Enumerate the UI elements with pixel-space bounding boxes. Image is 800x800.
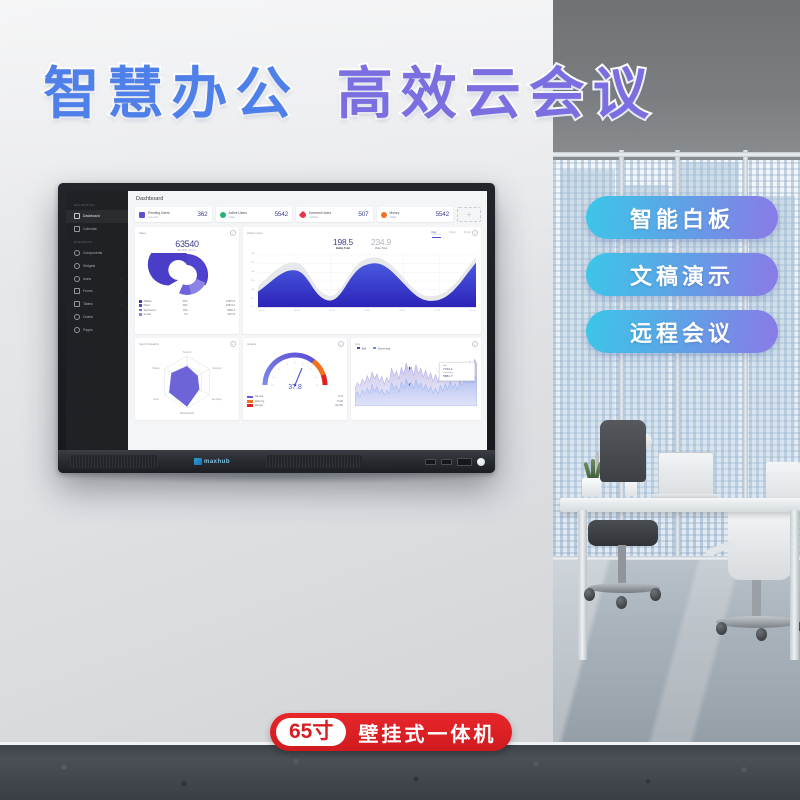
metric-value: 234.9 — [371, 237, 391, 247]
tooltip-value-1: 7314.4 — [443, 367, 471, 371]
caster — [650, 588, 661, 601]
card-title: Grades — [247, 342, 343, 346]
legend-label: Warning — [255, 400, 264, 403]
brand-logo: maxhub — [194, 458, 230, 465]
sidebar-item-charts[interactable]: Charts › — [66, 310, 128, 323]
chart-row-2: Sport Popularity — [135, 338, 481, 420]
dark-chair-seat — [588, 520, 658, 546]
legend-amount: 22874.4 — [226, 304, 235, 307]
components-icon — [74, 250, 80, 256]
feature-pill-remote-meeting[interactable]: 远程会议 — [586, 310, 778, 353]
stat-label: Pending Users more info — [148, 211, 170, 219]
legend-swatch — [357, 347, 360, 350]
radar-axis-label: Basketball — [180, 411, 194, 415]
stat-title: Money — [390, 211, 400, 215]
dormant-icon — [299, 210, 307, 218]
feature-pill-presentation[interactable]: 文稿演示 — [586, 253, 778, 296]
stat-subtitle: undefine — [309, 216, 318, 219]
stat-label: Money dollars — [390, 211, 400, 219]
radar-axis-label: Volley — [152, 366, 161, 370]
stat-value: 507 — [358, 211, 368, 218]
stat-subtitle: dollars — [390, 216, 397, 219]
dark-chair-base — [588, 583, 660, 593]
stat-title: Dormant Users — [309, 211, 331, 215]
hdmi-port-icon — [457, 458, 472, 466]
tab-month[interactable]: Month — [464, 231, 471, 238]
window-transom — [553, 152, 800, 157]
caster — [616, 596, 627, 609]
calendar-icon — [74, 226, 80, 232]
legend-swatch — [247, 404, 253, 407]
donut-chart — [139, 253, 235, 295]
dashboard-sidebar: NAVIGATION Dashboard Calendar ELEMENTS C… — [66, 191, 128, 458]
active-users-metrics: 198.5 Bullet Total 234.9 Plate Total — [247, 237, 477, 250]
page-title: Dashboard — [136, 196, 481, 202]
radar-axis-label: Soccer — [212, 366, 221, 370]
gauge-value: 37.8 — [288, 384, 302, 391]
sidebar-item-label: Charts — [83, 315, 93, 319]
legend-label: Ball — [362, 347, 366, 350]
concrete-floor — [0, 745, 800, 800]
legend-percent: 44% — [172, 300, 188, 303]
gear-icon[interactable] — [338, 341, 344, 347]
active-icon — [220, 212, 226, 218]
stat-card-row: Pending Users more info 362 Active Users… — [135, 207, 481, 222]
donut-center-subtitle: MORE INFO — [139, 249, 235, 252]
sidebar-item-tables[interactable]: Tables › — [66, 298, 128, 311]
sidebar-item-label: Icons — [83, 277, 91, 281]
tab-day[interactable]: Day2018-01-01 — [432, 231, 442, 238]
chevron-right-icon: › — [121, 277, 122, 281]
sidebar-item-label: Tables — [83, 302, 93, 306]
logo-text: maxhub — [204, 459, 230, 465]
stat-value: 362 — [197, 211, 207, 218]
speaker-grille-right — [266, 455, 362, 468]
legend-label: Sponsored — [144, 309, 172, 312]
radar-axis-label: Tennis — [183, 350, 192, 354]
legend-label: Danger — [255, 404, 263, 407]
gear-icon[interactable] — [230, 341, 236, 347]
feature-pill-whiteboard[interactable]: 智能白板 — [586, 196, 778, 239]
legend-label: Direct — [144, 304, 172, 307]
dashboard-content: Dashboard Pending Users more info 362 — [128, 191, 487, 458]
sidebar-item-pages[interactable]: Pages › — [66, 323, 128, 336]
area-chart — [258, 253, 476, 311]
gear-icon[interactable] — [472, 230, 478, 236]
line-chart-card: Line Ball Swimming — [351, 338, 481, 420]
caster — [716, 622, 727, 635]
card-title: Line — [355, 342, 477, 346]
radar-axis-label: Hockey — [212, 397, 223, 401]
dark-chair-back — [600, 420, 646, 482]
desk-leg-left — [578, 510, 587, 660]
legend-label: Affiliate — [144, 300, 172, 303]
legend-range: 90-100 — [335, 404, 343, 407]
legend-label: Normal — [255, 395, 263, 398]
sidebar-item-calendar[interactable]: Calendar — [66, 223, 128, 236]
legend-swatch — [139, 309, 142, 312]
white-chair-post — [752, 580, 761, 618]
legend-swatch — [139, 304, 142, 307]
stat-title: Pending Users — [148, 211, 170, 215]
white-chair-base — [716, 616, 800, 628]
metric-value: 198.5 — [333, 237, 353, 247]
stat-title: Active Users — [229, 211, 248, 215]
stat-card-dormant-users[interactable]: Dormant Users undefine 507 — [296, 207, 373, 222]
legend-item-swimming[interactable]: Swimming — [373, 347, 390, 351]
gear-icon[interactable] — [230, 230, 236, 236]
chevron-right-icon: › — [121, 251, 122, 255]
pages-icon — [74, 327, 80, 333]
legend-amount: 4447.8 — [227, 313, 235, 316]
add-card-button[interactable]: + — [457, 207, 481, 222]
logo-mark-icon — [194, 458, 202, 465]
desk-leg-right — [790, 510, 799, 660]
dashboard-screen: NAVIGATION Dashboard Calendar ELEMENTS C… — [66, 191, 487, 458]
radar-chart: Tennis Soccer Hockey Basketball Golf Vol… — [139, 346, 235, 416]
stat-subtitle: more info — [148, 216, 158, 219]
legend-swatch — [247, 396, 253, 399]
y-tick: 50 — [251, 298, 253, 300]
sidebar-section-elements: ELEMENTS — [66, 236, 128, 247]
charts-icon — [74, 314, 80, 320]
sidebar-item-label: Dashboard — [83, 214, 100, 218]
headline-part-1: 智慧办公 — [43, 62, 299, 125]
line-legend: Ball Swimming — [357, 347, 477, 351]
tab-sublabel: 2018-01-01 — [432, 234, 442, 236]
poster-headline: 智慧办公 高效云会议 — [0, 66, 700, 122]
headline-part-2: 高效云会议 — [337, 62, 657, 125]
sidebar-item-forms[interactable]: Forms › — [66, 285, 128, 298]
sidebar-item-label: Components — [83, 251, 102, 255]
metric-label: Plate Total — [371, 247, 391, 250]
side-cabinet — [766, 462, 800, 502]
speaker-grille-left — [70, 455, 158, 468]
tab-week[interactable]: Week — [449, 231, 456, 238]
legend-swatch — [247, 400, 253, 403]
display-drop-shadow — [70, 470, 482, 484]
stat-card-active-users[interactable]: Active Users online 5542 — [216, 207, 293, 222]
caster — [756, 628, 767, 641]
chevron-right-icon: › — [121, 315, 122, 319]
stat-label: Active Users online — [229, 211, 248, 219]
legend-label: E-mail — [144, 313, 172, 316]
radar-axis-label: Golf — [153, 397, 159, 401]
money-icon — [381, 212, 387, 218]
tooltip-value-2: 5881.7 — [443, 374, 471, 378]
white-chair-back — [728, 500, 792, 580]
legend-item: Danger 90-100 — [247, 403, 343, 407]
stat-label: Dormant Users undefine — [309, 211, 331, 219]
legend-swatch — [373, 347, 376, 350]
sidebar-item-widgets[interactable]: Widgets › — [66, 259, 128, 272]
badge-size-label: 65寸 — [276, 718, 346, 746]
sales-donut-card: Sales 63540 MORE INFO — [135, 227, 239, 334]
sidebar-section-navigation: NAVIGATION — [66, 199, 128, 210]
tables-icon — [74, 301, 80, 307]
chevron-right-icon: › — [121, 264, 122, 268]
laptop-screen — [658, 452, 714, 498]
sidebar-item-dashboard[interactable]: Dashboard — [66, 210, 128, 223]
y-tick: 150 — [251, 280, 255, 282]
gauge-chart: 37.8 — [247, 347, 343, 391]
sidebar-item-components[interactable]: Components › — [66, 247, 128, 260]
widgets-icon — [74, 263, 80, 269]
sidebar-item-label: Widgets — [83, 264, 95, 268]
y-tick: 100 — [251, 289, 255, 291]
legend-amount: 27957.8 — [226, 300, 235, 303]
sidebar-item-label: Forms — [83, 289, 93, 293]
legend-percent: 36% — [172, 304, 188, 307]
sport-popularity-radar-card: Sport Popularity — [135, 338, 239, 420]
legend-percent: 13% — [172, 309, 188, 312]
forms-icon — [74, 288, 80, 294]
y-tick: 200 — [251, 271, 255, 273]
product-size-badge: 65寸 壁挂式一体机 — [270, 713, 512, 751]
stat-card-pending-users[interactable]: Pending Users more info 362 — [135, 207, 212, 222]
y-tick: 250 — [251, 262, 255, 264]
metric-plate-total: 234.9 Plate Total — [371, 237, 391, 250]
sidebar-item-icons[interactable]: Icons › — [66, 272, 128, 285]
pending-icon — [139, 212, 145, 218]
poster-stage: 智慧办公 高效云会议 智能白板 文稿演示 远程会议 65寸 壁挂式一体机 NAV… — [0, 0, 800, 800]
chart-row-1: Sales 63540 MORE INFO — [135, 227, 481, 334]
desk-top — [560, 498, 800, 512]
active-users-area-card: Active Users Day2018-01-01 Week Month 19… — [243, 227, 481, 334]
badge-type-label: 壁挂式一体机 — [358, 718, 496, 747]
donut-center-value: 63540 — [139, 239, 235, 249]
legend-range: 0-70 — [338, 395, 343, 398]
home-icon — [74, 213, 80, 219]
legend-item-ball[interactable]: Ball — [357, 347, 366, 351]
gauge-legend: Normal 0-70 Warning 70-90 Danger — [247, 395, 343, 408]
stat-value: 5542 — [436, 211, 449, 218]
stat-subtitle: online — [229, 216, 235, 219]
card-title: Sales — [139, 231, 235, 235]
chart-tooltip: Ball 7314.4 Swimming 5881.7 — [439, 362, 475, 381]
legend-amount: 8060.4 — [227, 309, 235, 312]
legend-item: E-mail 7% 4447.8 — [139, 312, 235, 316]
sidebar-item-label: Calendar — [83, 227, 97, 231]
metric-bullet-total: 198.5 Bullet Total — [333, 237, 353, 250]
stat-card-money[interactable]: Money dollars 5542 — [377, 207, 454, 222]
gear-icon[interactable] — [472, 341, 478, 347]
usb-port-icon — [441, 459, 452, 465]
legend-label: Swimming — [378, 347, 390, 350]
donut-legend: Affiliate 44% 27957.8 Direct 36% 22874.4 — [139, 299, 235, 317]
grades-gauge-card: Grades — [243, 338, 347, 420]
y-tick: 0 — [251, 306, 252, 308]
period-tabs: Day2018-01-01 Week Month — [432, 231, 471, 238]
legend-swatch — [139, 313, 142, 316]
wall-mounted-display: NAVIGATION Dashboard Calendar ELEMENTS C… — [58, 183, 495, 473]
chevron-right-icon: › — [121, 302, 122, 306]
y-tick: 300 — [251, 253, 255, 255]
icons-icon — [74, 276, 80, 282]
sidebar-item-label: Pages — [83, 328, 93, 332]
plant-pot — [582, 478, 601, 497]
chevron-right-icon: › — [121, 328, 122, 332]
power-indicator-icon[interactable] — [477, 458, 485, 466]
chevron-right-icon: › — [121, 289, 122, 293]
caster — [584, 588, 595, 601]
legend-range: 70-90 — [337, 400, 343, 403]
usb-port-icon — [425, 459, 436, 465]
legend-percent: 7% — [172, 313, 188, 316]
stat-value: 5542 — [275, 211, 288, 218]
legend-swatch — [139, 300, 142, 303]
metric-label: Bullet Total — [333, 247, 353, 250]
dark-chair-post — [618, 545, 626, 585]
feature-pill-list: 智能白板 文稿演示 远程会议 — [586, 196, 778, 353]
